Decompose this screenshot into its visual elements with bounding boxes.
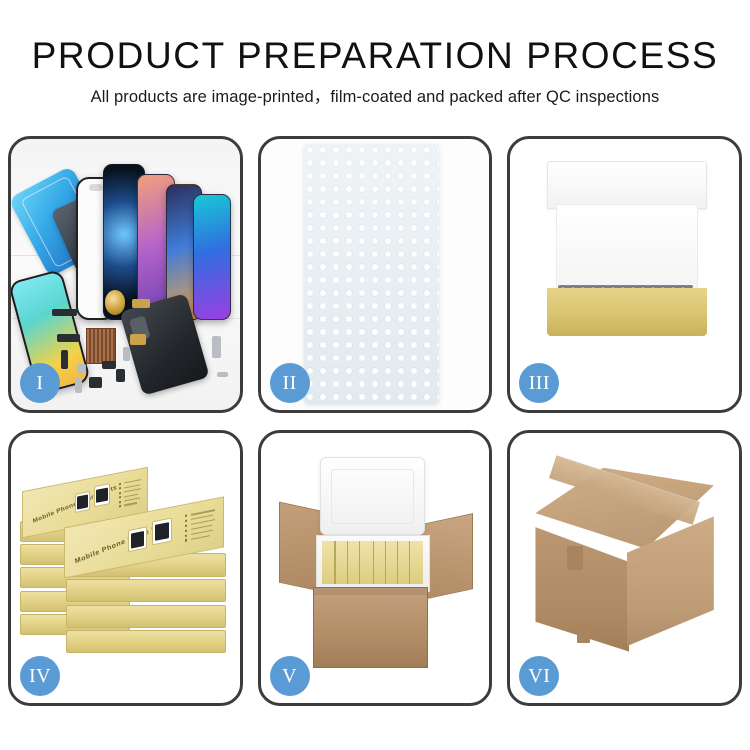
process-step-4: Mobile Phone Spare Parts Mobile Phone Sp… bbox=[8, 430, 243, 707]
shipping-carton-open bbox=[313, 587, 427, 668]
phone-screen-teal bbox=[193, 194, 231, 321]
foam-lid bbox=[320, 457, 425, 535]
phone-fan-group bbox=[73, 158, 233, 320]
product-preparation-infographic: PRODUCT PREPARATION PROCESS All products… bbox=[0, 0, 750, 750]
step-badge-4: IV bbox=[20, 656, 60, 696]
step-badge-5: V bbox=[270, 656, 310, 696]
page-subtitle: All products are image-printed，film-coat… bbox=[0, 86, 750, 108]
screw-tray-part bbox=[86, 328, 116, 363]
retail-boxes-inside bbox=[322, 541, 423, 584]
bubble-wrap-sleeve bbox=[304, 144, 439, 404]
copper-coil-part bbox=[105, 290, 126, 314]
process-step-6: VI bbox=[507, 430, 742, 707]
process-step-3: III bbox=[507, 136, 742, 413]
foam-sheet bbox=[556, 204, 698, 293]
kraft-tray bbox=[547, 288, 707, 337]
box-lid bbox=[547, 161, 707, 210]
process-step-grid: I II bbox=[8, 136, 742, 706]
process-step-1: I bbox=[8, 136, 243, 413]
step-badge-1: I bbox=[20, 363, 60, 403]
step-badge-3: III bbox=[519, 363, 559, 403]
header: PRODUCT PREPARATION PROCESS All products… bbox=[0, 0, 750, 108]
process-step-2: II bbox=[258, 136, 493, 413]
step-badge-2: II bbox=[270, 363, 310, 403]
process-step-5: V bbox=[258, 430, 493, 707]
box-stack: Mobile Phone Spare Parts Mobile Phone Sp… bbox=[20, 449, 230, 682]
page-title: PRODUCT PREPARATION PROCESS bbox=[0, 34, 750, 78]
